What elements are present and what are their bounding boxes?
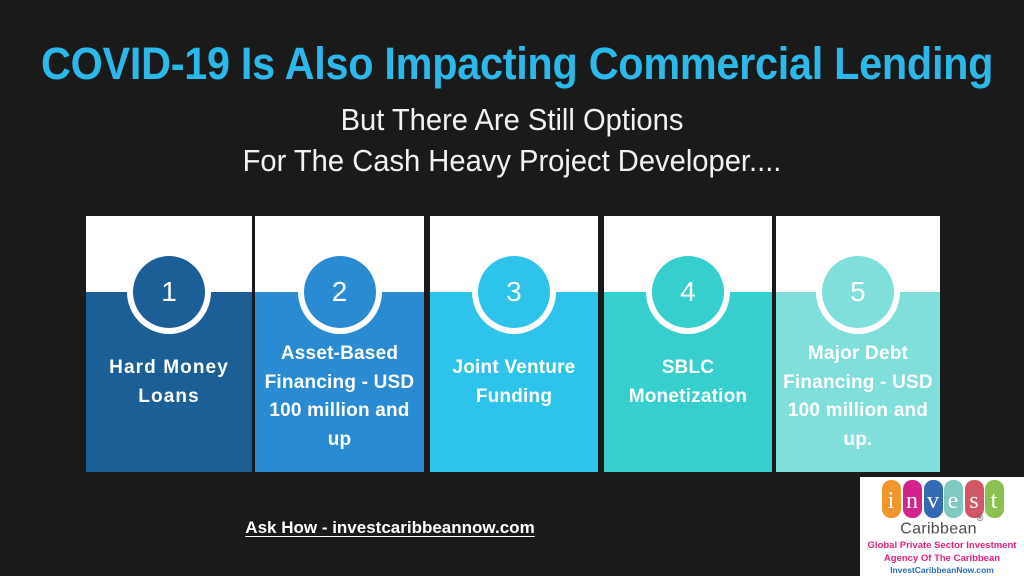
options-card-row: Hard Money Loans 1 Asset-Based Financing…	[86, 216, 940, 472]
logo-letter-e: e	[943, 489, 963, 513]
page-title: COVID-19 Is Also Impacting Commercial Le…	[41, 40, 983, 87]
card-label-5: Major Debt Financing - USD 100 million a…	[782, 340, 934, 454]
logo-tagline-line-2: Agency Of The Caribbean	[860, 553, 1024, 566]
card-label-4: SBLC Monetization	[610, 354, 766, 411]
card-badge-ring-3: 3	[472, 250, 556, 334]
card-badge-ring-1: 1	[127, 250, 211, 334]
page-subtitle: But There Are Still Options For The Cash…	[31, 100, 994, 182]
card-number-badge-2: 2	[304, 256, 376, 328]
option-card-5[interactable]: Major Debt Financing - USD 100 million a…	[776, 216, 940, 472]
logo-letter-n: n	[902, 489, 922, 513]
card-badge-ring-5: 5	[816, 250, 900, 334]
card-number-badge-5: 5	[822, 256, 894, 328]
card-badge-ring-4: 4	[646, 250, 730, 334]
logo-letter-v: v	[923, 489, 943, 513]
card-number-badge-4: 4	[652, 256, 724, 328]
invest-caribbean-logo[interactable]: i n v e s t Caribbean® Global Private Se…	[860, 477, 1024, 576]
subtitle-line-1: But There Are Still Options	[31, 100, 994, 141]
card-number-badge-1: 1	[133, 256, 205, 328]
ask-how-link[interactable]: Ask How - investcaribbeannow.com	[0, 518, 780, 538]
logo-letter-s: s	[964, 489, 984, 513]
logo-caribbean-text: Caribbean	[900, 520, 977, 537]
option-card-1[interactable]: Hard Money Loans 1	[86, 216, 252, 472]
card-badge-ring-2: 2	[298, 250, 382, 334]
logo-url: InvestCaribbeanNow.com	[860, 565, 1024, 575]
logo-tagline-line-1: Global Private Sector Investment	[860, 540, 1024, 553]
logo-wordmark-invest: i n v e s t	[882, 480, 1004, 518]
logo-tagline: Global Private Sector Investment Agency …	[860, 540, 1024, 566]
card-label-2: Asset-Based Financing - USD 100 million …	[261, 340, 418, 454]
card-label-1: Hard Money Loans	[92, 354, 246, 411]
option-card-3[interactable]: Joint Venture Funding 3	[430, 216, 598, 472]
subtitle-line-2: For The Cash Heavy Project Developer....	[31, 141, 994, 182]
logo-letter-t: t	[984, 489, 1004, 513]
logo-letter-i: i	[881, 489, 901, 513]
card-label-3: Joint Venture Funding	[436, 354, 592, 411]
logo-word-caribbean: Caribbean®	[860, 519, 1024, 538]
option-card-4[interactable]: SBLC Monetization 4	[604, 216, 772, 472]
option-card-2[interactable]: Asset-Based Financing - USD 100 million …	[255, 216, 424, 472]
card-number-badge-3: 3	[478, 256, 550, 328]
